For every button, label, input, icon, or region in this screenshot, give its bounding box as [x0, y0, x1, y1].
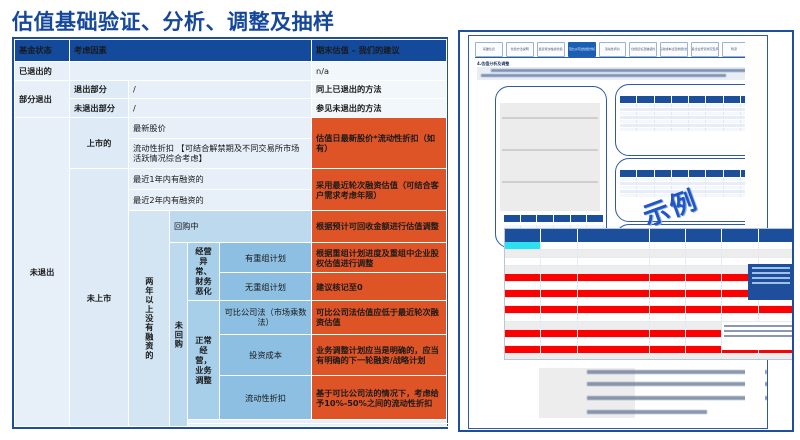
valuation-matrix-table: 基金状态 考虑因素 期末估值 – 我们的建议 已退出的 n/a 部分退出 退出部… — [12, 37, 448, 429]
cell-status-exited: 已退出的 — [15, 61, 70, 80]
mock-tab-underline — [475, 57, 763, 58]
table-row-listed-latest-price: 未退出 上市的 最新股价 估值日最新股价*流动性折扣（如有） — [15, 117, 447, 138]
cell-partial-label-1: 未退出部分 — [70, 99, 129, 118]
mock-intro-paragraph — [477, 67, 761, 80]
cell-partial-recommendation-0: 同上已退出的方法 — [312, 80, 447, 99]
cell-normal-label: 正常经营，业务调整 — [188, 300, 220, 419]
cell-exited-factors — [70, 61, 312, 80]
cell-partial-recommendation-1: 参见未退出的方法 — [312, 99, 447, 118]
table-header-row: 基金状态 考虑因素 期末估值 – 我们的建议 — [15, 40, 447, 62]
cell-financing-factor-0: 最近1年内有融资的 — [129, 169, 312, 190]
mock-r1-row-4 — [620, 116, 758, 119]
mock-r1-row-7 — [620, 128, 758, 131]
mock-r1-row-1 — [620, 104, 758, 107]
cell-buyback-label: 回购中 — [170, 210, 312, 242]
slide-root: 估值基础验证、分析、调整及抽样 基金状态 考虑因素 期末估值 – 我们的建议 已… — [0, 0, 800, 440]
mock-paragraph-line-2 — [481, 74, 736, 77]
table-row-exited: 已退出的 n/a — [15, 61, 447, 80]
mock-r1-row-6 — [620, 124, 758, 127]
spreadsheet-col-3 — [578, 229, 650, 242]
mock-gray-bar-2 — [502, 149, 598, 151]
mock-r1-row-2 — [620, 108, 758, 111]
cell-abnormal-item-0-label: 有重组计划 — [220, 242, 312, 273]
mock-tab-5[interactable]: 估值结论及敏感性 — [629, 42, 657, 57]
mock-r1-row-3 — [620, 112, 758, 115]
cell-normal-item-1-label: 投资成本 — [220, 334, 312, 376]
mock-bubble-left — [495, 86, 607, 248]
mock-tab-3-label: 可比公司法估值分析 — [568, 47, 595, 51]
spreadsheet-col-1 — [505, 229, 541, 242]
mock-lower-text-4 — [587, 410, 707, 414]
cell-abnormal-item-1-recommendation: 建议核记至0 — [312, 273, 447, 300]
mock-note-line-1 — [724, 325, 792, 327]
cell-no-buyback-label: 未回购 — [170, 242, 188, 426]
spreadsheet-row-10 — [505, 314, 794, 322]
cell-financing-factor-1: 最近2年内有融资的 — [129, 190, 312, 211]
spreadsheet-row-1 — [505, 242, 794, 250]
cell-status-partial: 部分退出 — [15, 80, 70, 117]
mock-tab-2[interactable]: 最近轮次融资估值 — [537, 42, 565, 57]
mock-paragraph-line-1 — [491, 69, 761, 72]
spreadsheet-col-5 — [686, 229, 722, 242]
spreadsheet-row-9-highlight — [505, 306, 794, 314]
mock-r1-footnote — [621, 133, 757, 136]
mock-tab-0[interactable]: 基础信息 — [475, 42, 503, 57]
spreadsheet-row-15 — [505, 354, 794, 360]
spreadsheet-col-2 — [541, 229, 577, 242]
cell-listed-label: 上市的 — [70, 117, 129, 169]
cell-buyback-recommendation: 根据预计可回收金额进行估值调整 — [312, 210, 447, 242]
mock-tab-4[interactable]: 流动性折扣 — [599, 42, 627, 57]
mock-tab-strip[interactable]: 基础信息 估值方法说明 最近轮次融资估值 可比公司法估值分析 流动性折扣 估值结… — [475, 42, 763, 56]
mock-tab-5-label: 估值结论及敏感性 — [631, 47, 655, 51]
mock-r1-row-5 — [620, 120, 758, 123]
mock-tab-7[interactable]: 被投企业经营状况及风险 — [691, 42, 719, 57]
cell-partial-label-0: 退出部分 — [70, 80, 129, 99]
mock-tab-6[interactable]: 投资成本法及重组估值 — [660, 42, 688, 57]
mock-lower-text-1 — [587, 370, 767, 374]
no-financing-vertical-text: 两年以上没有融资的 — [145, 277, 154, 360]
cell-partial-detail-0: / — [129, 80, 312, 99]
mock-left-footnote — [501, 232, 502, 235]
mock-left-table-header — [504, 215, 604, 222]
table-row-partial-exited-part: 部分退出 退出部分 / 同上已退出的方法 — [15, 80, 447, 99]
cell-unlisted-label: 未上市 — [70, 169, 129, 427]
filler-cell-2 — [188, 423, 447, 426]
mock-r2-table-header — [620, 170, 758, 177]
mock-lower-section — [477, 366, 768, 429]
cell-exited-recommendation: n/a — [312, 61, 447, 80]
mock-tab-1[interactable]: 估值方法说明 — [506, 42, 534, 57]
mock-lower-text-3 — [587, 396, 768, 400]
mock-bubble-left-title — [502, 91, 600, 96]
mock-gray-placeholder — [500, 103, 600, 211]
cell-abnormal-item-0-recommendation: 根据重组计划进度及重组中企业股权估值进行调整 — [312, 242, 447, 273]
cell-normal-item-1-recommendation: 业务调整计划应当是明确的，应当有明确的下一轮融资/战略计划 — [312, 334, 447, 376]
spreadsheet-row-2 — [505, 250, 794, 258]
spreadsheet-col-7 — [759, 229, 794, 242]
cell-partial-detail-1: / — [129, 99, 312, 118]
cell-financing-recommendation: 采用最近轮次融资估值（可结合客户需求考虑年限） — [312, 169, 447, 211]
mock-bubble-r2-title — [622, 163, 756, 168]
mock-gray-bar-1 — [502, 117, 598, 119]
header-fund-status: 基金状态 — [15, 40, 70, 62]
table-row-partial-unexited-part: 未退出部分 / 参见未退出的方法 — [15, 99, 447, 118]
mock-tab-4-label: 流动性折扣 — [605, 47, 620, 51]
mock-tab-6-label: 投资成本法及重组估值 — [660, 47, 688, 51]
mock-tab-1-label: 估值方法说明 — [511, 47, 529, 51]
mock-note-line-2 — [724, 330, 792, 332]
mock-side-callout — [748, 264, 794, 300]
mock-lower-text-2 — [587, 382, 768, 386]
mock-gray-bar-3 — [502, 181, 598, 183]
mock-note-line-3 — [724, 335, 792, 337]
spreadsheet-col-6 — [722, 229, 758, 242]
mock-note-callout — [722, 322, 794, 350]
cell-listed-factor-0: 最新股价 — [129, 117, 312, 138]
mock-tab-8[interactable]: 附录 — [722, 42, 746, 57]
cell-listed-factor-1: 流动性折扣 【可结合解禁期及不同交易所市场活跃情况综合考虑】 — [129, 138, 312, 169]
cell-normal-item-0-recommendation: 可比公司法估值应低于最近轮次融资估值 — [312, 300, 447, 334]
page-title: 估值基础验证、分析、调整及抽样 — [12, 6, 335, 36]
cell-normal-item-2-label: 流动性折扣 — [220, 376, 312, 420]
cell-no-financing-label: 两年以上没有融资的 — [129, 210, 170, 426]
header-considerations: 考虑因素 — [70, 40, 312, 62]
cell-listed-recommendation: 估值日最新股价*流动性折扣（如有） — [312, 117, 447, 169]
mock-side-callout-line-4 — [752, 282, 790, 284]
cell-status-not-exited: 未退出 — [15, 117, 70, 426]
table-row-unlisted-financing-1y: 未上市 最近1年内有融资的 采用最近轮次融资估值（可结合客户需求考虑年限） — [15, 169, 447, 190]
header-recommendation: 期末估值 – 我们的建议 — [312, 40, 447, 62]
mock-tab-2-label: 最近轮次融资估值 — [539, 47, 563, 51]
no-buyback-vertical-text: 未回购 — [174, 321, 183, 349]
mock-bubble-r1-title — [622, 89, 756, 94]
mock-tab-7-label: 被投企业经营状况及风险 — [691, 47, 719, 51]
mock-side-callout-line-2 — [752, 272, 790, 274]
cell-normal-item-2-recommendation: 基于可比公司法的情况下，考虑给予10%-50%之间的流动性折扣 — [312, 376, 447, 420]
mock-tab-3-selected[interactable]: 可比公司法估值分析 — [568, 42, 596, 57]
cell-abnormal-item-1-label: 无重组计划 — [220, 273, 312, 300]
mock-r1-table-header — [620, 96, 758, 103]
mock-tab-8-label: 附录 — [731, 47, 737, 51]
mock-tab-0-label: 基础信息 — [483, 47, 495, 51]
cell-normal-item-0-label: 可比公司法（市场乘数法） — [220, 300, 312, 334]
cell-abnormal-label: 经营异常、财务恶化 — [188, 242, 220, 300]
mock-bubble-right-1 — [615, 84, 763, 156]
mock-side-callout-line-1 — [752, 267, 790, 269]
example-screenshot-panel: 基础信息 估值方法说明 最近轮次融资估值 可比公司法估值分析 流动性折扣 估值结… — [458, 30, 794, 432]
mock-side-callout-line-3 — [752, 277, 790, 279]
